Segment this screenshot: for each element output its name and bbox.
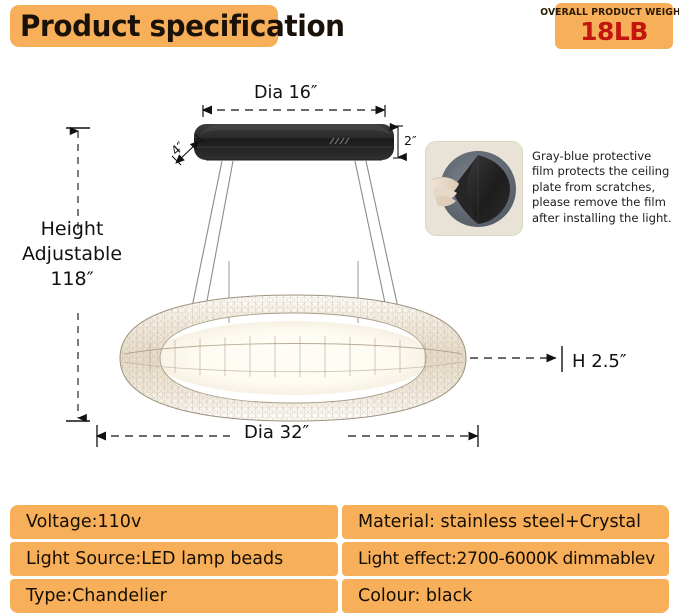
product-dimension-diagram: Dia 16″ 2″ 4″ H 2.5″ Dia 32″ Height Adju…	[0, 55, 679, 485]
dimension-label-ring-diameter: Dia 32″	[244, 422, 309, 443]
spec-cell-material: Material: stainless steel+Crystal	[342, 505, 669, 539]
specification-table: Voltage:110v Material: stainless steel+C…	[10, 505, 669, 613]
height-label-line3: 118″	[12, 267, 132, 292]
ceiling-plate	[194, 124, 394, 160]
page-title: Product specification	[20, 9, 345, 43]
canopy-diameter-dimension-line	[203, 105, 385, 117]
spec-cell-voltage: Voltage:110v	[10, 505, 338, 539]
protective-film-note: Gray-blue protective film protects the c…	[425, 141, 673, 236]
weight-caption: OVERALL PRODUCT WEIGHT	[541, 8, 679, 18]
dimension-label-canopy-diameter: Dia 16″	[254, 83, 317, 103]
dimension-label-adjustable-height: Height Adjustable 118″	[12, 217, 132, 292]
dimension-label-ring-height: H 2.5″	[572, 351, 627, 372]
overall-weight-badge: OVERALL PRODUCT WEIGHT 18LB	[555, 3, 673, 49]
spec-cell-light-effect: Light effect:2700-6000K dimmablev	[342, 542, 669, 576]
page-title-banner: Product specification	[10, 5, 278, 47]
table-row: Light Source:LED lamp beads Light effect…	[10, 542, 669, 576]
canopy-height-dimension-line	[393, 126, 403, 158]
table-row: Type:Chandelier Colour: black	[10, 579, 669, 613]
protective-film-text: Gray-blue protective film protects the c…	[532, 141, 673, 226]
dimension-label-canopy-height: 2″	[404, 133, 417, 148]
suspension-wires	[190, 161, 400, 317]
spec-cell-colour: Colour: black	[342, 579, 669, 613]
height-label-line2: Adjustable	[12, 242, 132, 267]
height-label-line1: Height	[12, 217, 132, 242]
crystal-oval-ring	[120, 295, 466, 421]
table-row: Voltage:110v Material: stainless steel+C…	[10, 505, 669, 539]
spec-cell-light-source: Light Source:LED lamp beads	[10, 542, 338, 576]
protective-film-thumbnail	[425, 141, 523, 236]
weight-value: 18LB	[580, 19, 648, 44]
spec-cell-type: Type:Chandelier	[10, 579, 338, 613]
ring-height-dimension-line	[470, 346, 562, 372]
